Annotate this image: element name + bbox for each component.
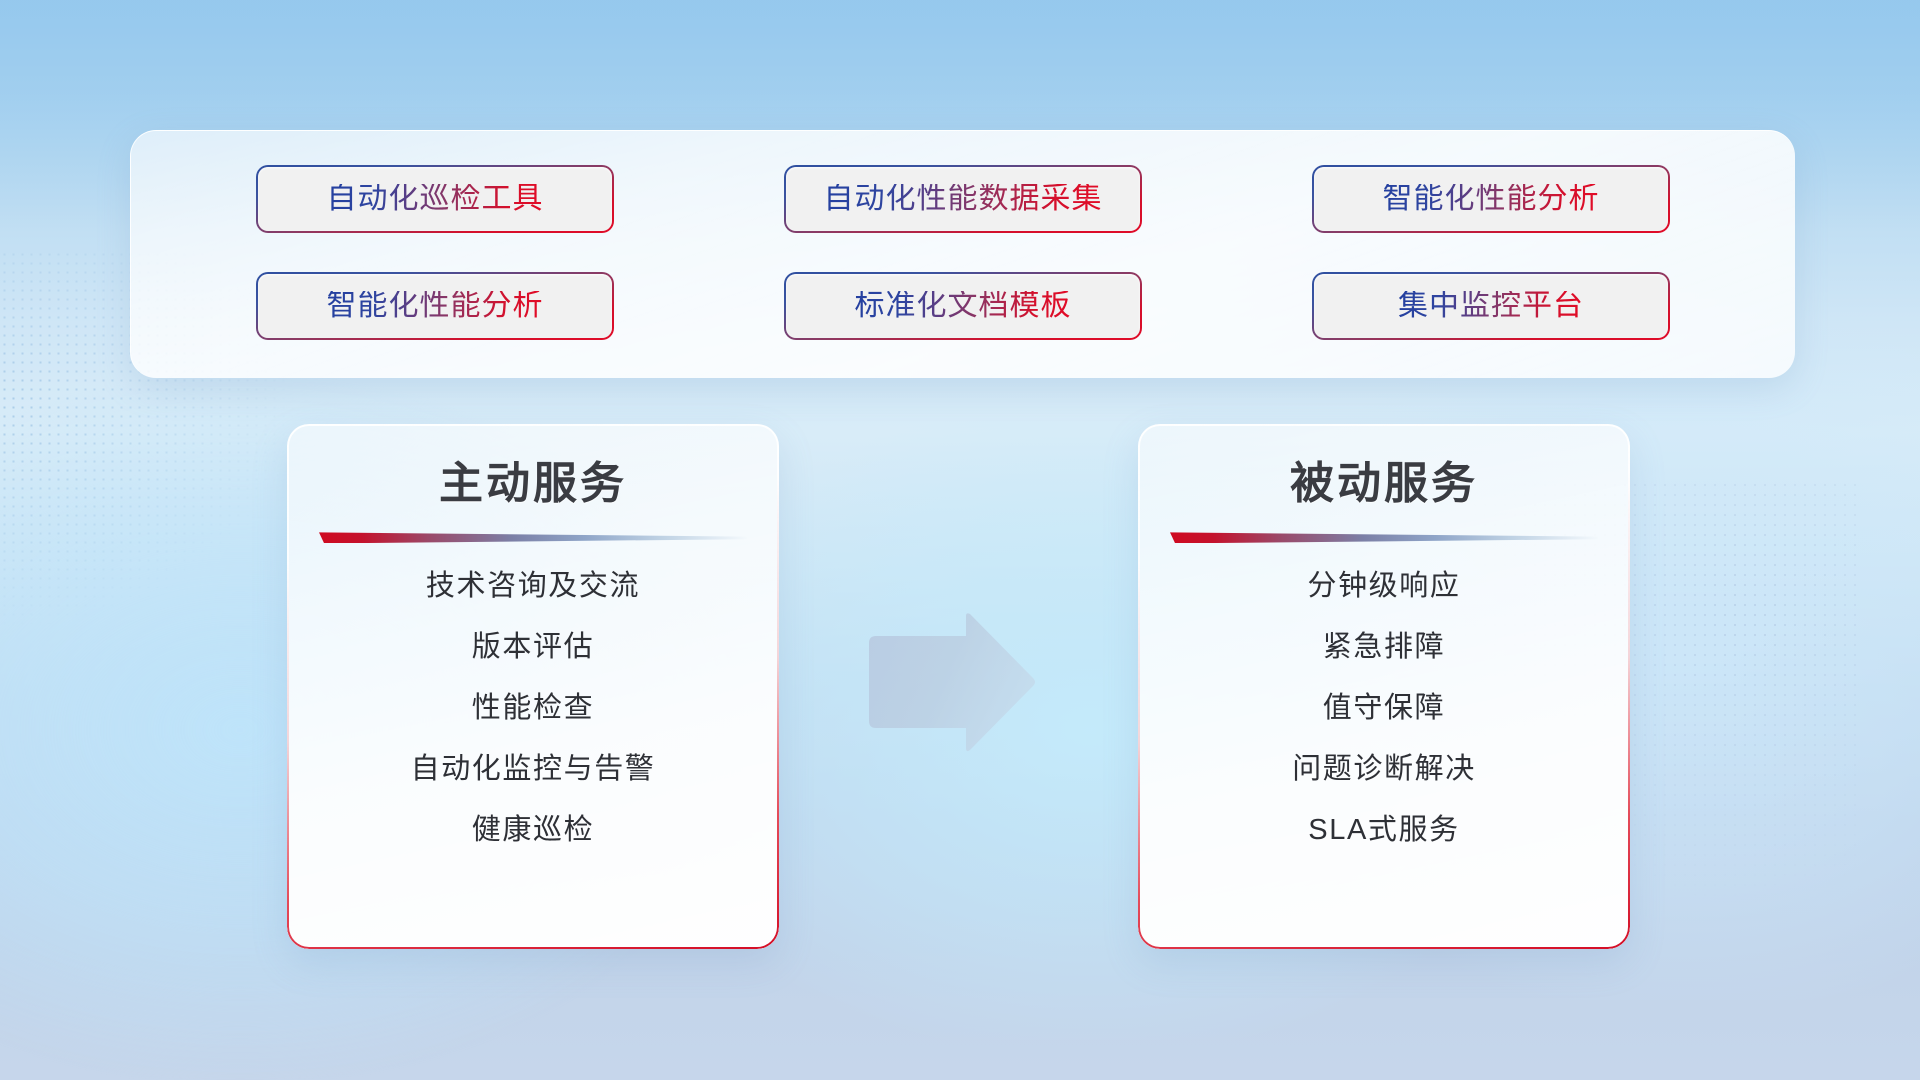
capability-pill-4-label: 智能化性能分析 [327,291,544,321]
capability-pill-2-inner: 自动化性能数据采集 [786,167,1140,231]
service-card-proactive-list: 技术咨询及交流 版本评估 性能检查 自动化监控与告警 健康巡检 [289,569,777,847]
list-item: 性能检查 [472,691,594,726]
capability-pill-5-inner: 标准化文档模板 [786,274,1140,338]
capability-pill-4-inner: 智能化性能分析 [258,274,612,338]
right-arrow-icon [865,612,1037,752]
service-card-proactive-title: 主动服务 [439,460,627,508]
list-item: 分钟级响应 [1307,569,1460,604]
list-item: 技术咨询及交流 [426,569,640,604]
service-card-proactive-divider [319,532,747,543]
capability-pill-3-inner: 智能化性能分析 [1314,167,1668,231]
capability-pill-5[interactable]: 标准化文档模板 [784,272,1142,340]
service-card-reactive-divider [1170,532,1598,543]
list-item: 问题诊断解决 [1292,752,1476,787]
capability-pill-6[interactable]: 集中监控平台 [1312,272,1670,340]
capability-pill-1[interactable]: 自动化巡检工具 [256,165,614,233]
capability-pill-4[interactable]: 智能化性能分析 [256,272,614,340]
service-card-reactive: 被动服务 分钟级响应 紧急排障 值守保障 问题诊断解决 SLA式服务 [1138,424,1630,949]
list-item: SLA式服务 [1308,813,1459,848]
list-item: 健康巡检 [472,813,594,848]
list-item: 自动化监控与告警 [411,752,656,787]
service-card-reactive-list: 分钟级响应 紧急排障 值守保障 问题诊断解决 SLA式服务 [1140,569,1628,847]
capability-pill-3-label: 智能化性能分析 [1383,184,1600,214]
service-card-proactive-content: 主动服务 技术咨询及交流 版本评估 性能检查 自动化监控与告警 健康巡检 [289,426,777,947]
capability-pill-5-label: 标准化文档模板 [855,291,1072,321]
capability-pill-6-inner: 集中监控平台 [1314,274,1668,338]
capability-pill-2-label: 自动化性能数据采集 [824,184,1103,214]
capability-pill-2[interactable]: 自动化性能数据采集 [784,165,1142,233]
service-card-reactive-content: 被动服务 分钟级响应 紧急排障 值守保障 问题诊断解决 SLA式服务 [1140,426,1628,947]
capability-pill-1-inner: 自动化巡检工具 [258,167,612,231]
list-item: 值守保障 [1323,691,1445,726]
list-item: 版本评估 [472,630,594,665]
capability-pill-1-label: 自动化巡检工具 [327,184,544,214]
list-item: 紧急排障 [1323,630,1445,665]
service-card-reactive-title: 被动服务 [1290,460,1478,508]
capability-pill-6-label: 集中监控平台 [1398,291,1584,321]
capability-pill-3[interactable]: 智能化性能分析 [1312,165,1670,233]
service-card-proactive: 主动服务 技术咨询及交流 版本评估 性能检查 自动化监控与告警 健康巡检 [287,424,779,949]
capability-panel: 自动化巡检工具 自动化性能数据采集 智能化性能分析 智能化性能分析 标准化文档模… [130,130,1795,378]
